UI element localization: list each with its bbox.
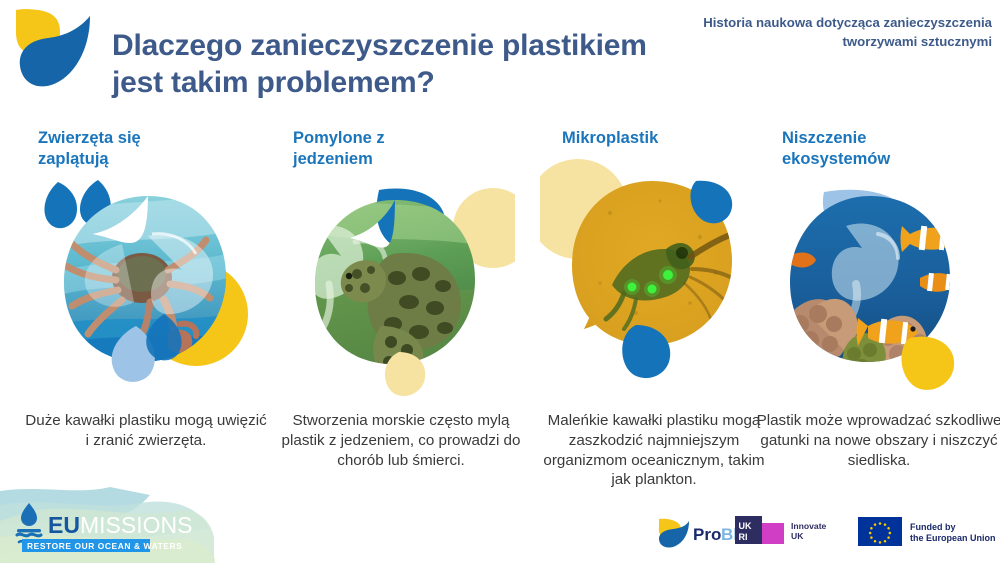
figure-ecosystem-destruction (760, 174, 990, 406)
column-heading-line-1: Mikroplastik (562, 128, 770, 149)
column-mistaken-for-food: Pomylone z jedzeniem (285, 128, 515, 406)
page-title-line-2: jest takim problemem? (112, 65, 672, 102)
column-caption-ecosystem-destruction: Plastik może wprowadzać szkodliwe gatunk… (754, 411, 1000, 470)
probleu-leaf-drop-mark-icon (4, 2, 108, 106)
funded-by-label-line-2: the European Union (910, 533, 996, 543)
page-title: Dlaczego zanieczyszczenie plastikiem jes… (112, 28, 672, 101)
figure-microplastics (540, 153, 770, 385)
header-kicker-line-2: tworzywami sztucznymi (652, 33, 992, 52)
ukri-innovate-uk-logo: UK RI Innovate UK (735, 513, 850, 547)
eu-missions-logo: EU MISSIONS RESTORE OUR OCEAN & WATERS (0, 485, 215, 563)
svg-text:RI: RI (739, 532, 748, 542)
column-caption-entanglement: Duże kawałki plastiku mogą uwięzić i zra… (24, 411, 268, 451)
column-caption-microplastics: Maleńkie kawałki plastiku mogą zaszkodzi… (540, 411, 768, 490)
funded-by-label-line-1: Funded by (910, 522, 956, 532)
probleu-name-dark: Pro (693, 525, 721, 544)
columns-container: Zwierzęta się zaplątują (0, 128, 1000, 528)
column-heading-line-1: Pomylone z (293, 128, 515, 149)
header-kicker-line-1: Historia naukowa dotycząca zanieczyszcze… (652, 14, 992, 33)
column-heading-mistaken-for-food: Pomylone z jedzeniem (293, 128, 515, 170)
svg-text:UK: UK (739, 521, 752, 531)
column-heading-microplastics: Mikroplastik (562, 128, 770, 149)
eu-missions-name-light: MISSIONS (80, 512, 192, 538)
figure-mistaken-for-food (285, 174, 515, 406)
funded-by-eu-logo: Funded by the European Union (858, 515, 998, 547)
slide-canvas: Dlaczego zanieczyszczenie plastikiem jes… (0, 0, 1000, 563)
figure-entanglement (30, 174, 260, 406)
column-heading-line-2: ekosystemów (782, 149, 990, 170)
column-heading-line-2: zaplątują (38, 149, 260, 170)
column-heading-line-2: jedzeniem (293, 149, 515, 170)
header-kicker: Historia naukowa dotycząca zanieczyszcze… (652, 14, 992, 51)
page-title-line-1: Dlaczego zanieczyszczenie plastikiem (112, 28, 672, 65)
column-heading-entanglement: Zwierzęta się zaplątują (38, 128, 260, 170)
column-ecosystem-destruction: Niszczenie ekosystemów (760, 128, 990, 406)
column-microplastics: Mikroplastik (540, 128, 770, 385)
innovate-uk-label-line-1: Innovate (791, 521, 827, 531)
column-heading-ecosystem-destruction: Niszczenie ekosystemów (782, 128, 990, 170)
ukri-logo-mark: UK RI (735, 516, 784, 544)
column-heading-line-1: Zwierzęta się (38, 128, 260, 149)
innovate-uk-label-line-2: UK (791, 531, 804, 541)
eu-flag-icon (858, 517, 902, 546)
column-caption-mistaken-for-food: Stworzenia morskie często mylą plastik z… (277, 411, 525, 470)
column-heading-line-1: Niszczenie (782, 128, 990, 149)
eu-missions-name-bold: EU (48, 512, 80, 538)
probleu-leaf-drop-mark-icon (659, 519, 689, 548)
column-entanglement: Zwierzęta się zaplątują (30, 128, 260, 406)
eu-missions-tagline: RESTORE OUR OCEAN & WATERS (27, 541, 182, 551)
